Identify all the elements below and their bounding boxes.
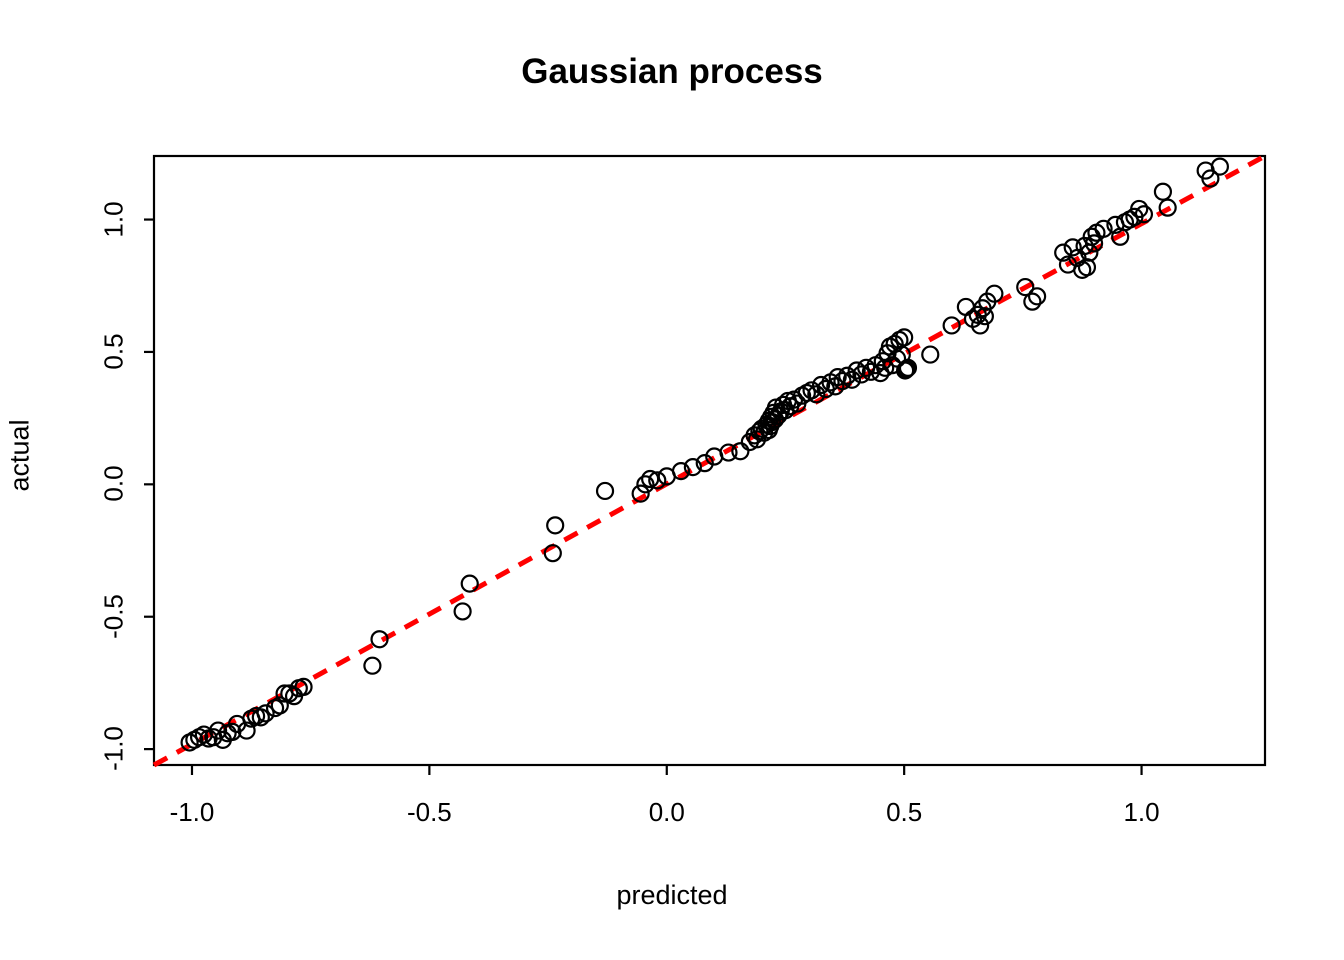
data-point: [1155, 184, 1171, 200]
y-tick-label: -1.0: [99, 689, 130, 809]
data-point: [462, 576, 478, 592]
data-point: [1079, 259, 1095, 275]
x-tick-label: -1.0: [132, 797, 252, 828]
identity-line: [154, 156, 1265, 765]
x-tick-label: 0.5: [844, 797, 964, 828]
figure-canvas: Gaussian process -1.0-0.50.00.51.0 -1.0-…: [0, 0, 1344, 960]
y-axis-label: actual: [5, 396, 36, 516]
data-point: [732, 443, 748, 459]
x-tick-label: 0.0: [607, 797, 727, 828]
y-tick-label: 0.5: [99, 291, 130, 411]
data-point: [958, 299, 974, 315]
data-point: [922, 347, 938, 363]
y-tick-label: -0.5: [99, 556, 130, 676]
data-point: [547, 517, 563, 533]
x-axis-label: predicted: [0, 880, 1344, 911]
data-point: [455, 603, 471, 619]
y-tick-label: 1.0: [99, 159, 130, 279]
x-tick-label: 1.0: [1082, 797, 1202, 828]
x-tick-label: -0.5: [369, 797, 489, 828]
y-tick-label: 0.0: [99, 424, 130, 544]
data-point: [597, 483, 613, 499]
data-point: [364, 658, 380, 674]
data-point: [1212, 159, 1228, 175]
